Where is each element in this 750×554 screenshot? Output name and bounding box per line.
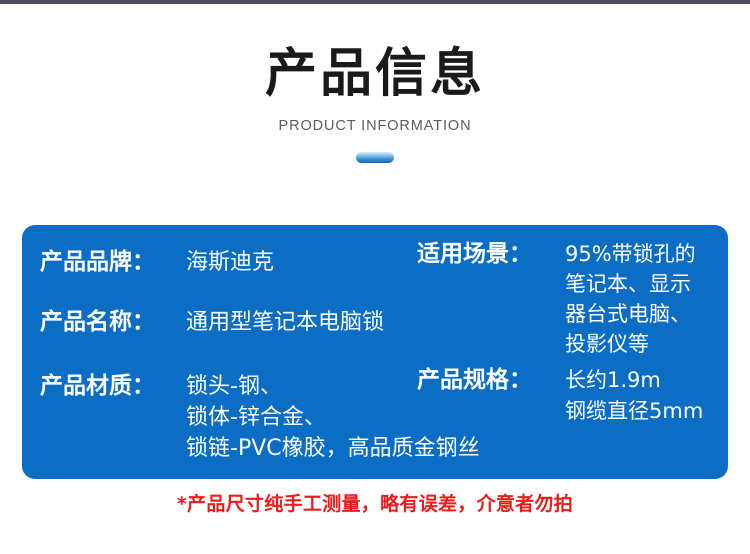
spec-label-scene: 适用场景：	[417, 239, 565, 270]
spec-value-line: 投影仪等	[565, 329, 696, 359]
spec-value-line: 器台式电脑、	[565, 299, 696, 329]
spec-value-name: 通用型笔记本电脑锁	[186, 307, 384, 338]
spec-value-line: 海斯迪克	[186, 247, 274, 278]
spec-row-scene: 适用场景： 95%带锁孔的 笔记本、显示 器台式电脑、 投影仪等	[417, 239, 696, 359]
page-header: 产品信息 PRODUCT INFORMATION	[0, 4, 750, 200]
spec-row-material: 产品材质： 锁头-钢、 锁体-锌合金、 锁链-PVC橡胶，高品质金钢丝	[40, 371, 480, 464]
spec-value-size: 长约1.9m 钢缆直径5mm	[565, 365, 703, 427]
spec-value-brand: 海斯迪克	[186, 247, 274, 278]
spec-row-size: 产品规格： 长约1.9m 钢缆直径5mm	[417, 365, 703, 427]
spec-value-line: 95%带锁孔的	[565, 239, 696, 269]
spec-label-size: 产品规格：	[417, 365, 565, 396]
spec-value-line: 笔记本、显示	[565, 269, 696, 299]
page-title: 产品信息	[0, 4, 750, 102]
spec-value-line: 长约1.9m	[565, 365, 703, 396]
spec-value-line: 通用型笔记本电脑锁	[186, 307, 384, 338]
spec-label-material: 产品材质：	[40, 371, 186, 402]
spec-value-line: 钢缆直径5mm	[565, 396, 703, 427]
spec-value-line: 锁链-PVC橡胶，高品质金钢丝	[186, 433, 480, 464]
spec-row-name: 产品名称： 通用型笔记本电脑锁	[40, 307, 384, 338]
product-spec-panel: 产品品牌： 海斯迪克 产品名称： 通用型笔记本电脑锁 产品材质： 锁头-钢、 锁…	[22, 225, 728, 479]
measurement-disclaimer: *产品尺寸纯手工测量，略有误差，介意者勿拍	[0, 490, 750, 518]
spec-row-brand: 产品品牌： 海斯迪克	[40, 247, 274, 278]
page-subtitle: PRODUCT INFORMATION	[0, 102, 750, 135]
spec-label-name: 产品名称：	[40, 307, 186, 338]
header-underline-accent	[356, 152, 394, 163]
spec-value-scene: 95%带锁孔的 笔记本、显示 器台式电脑、 投影仪等	[565, 239, 696, 359]
spec-label-brand: 产品品牌：	[40, 247, 186, 278]
